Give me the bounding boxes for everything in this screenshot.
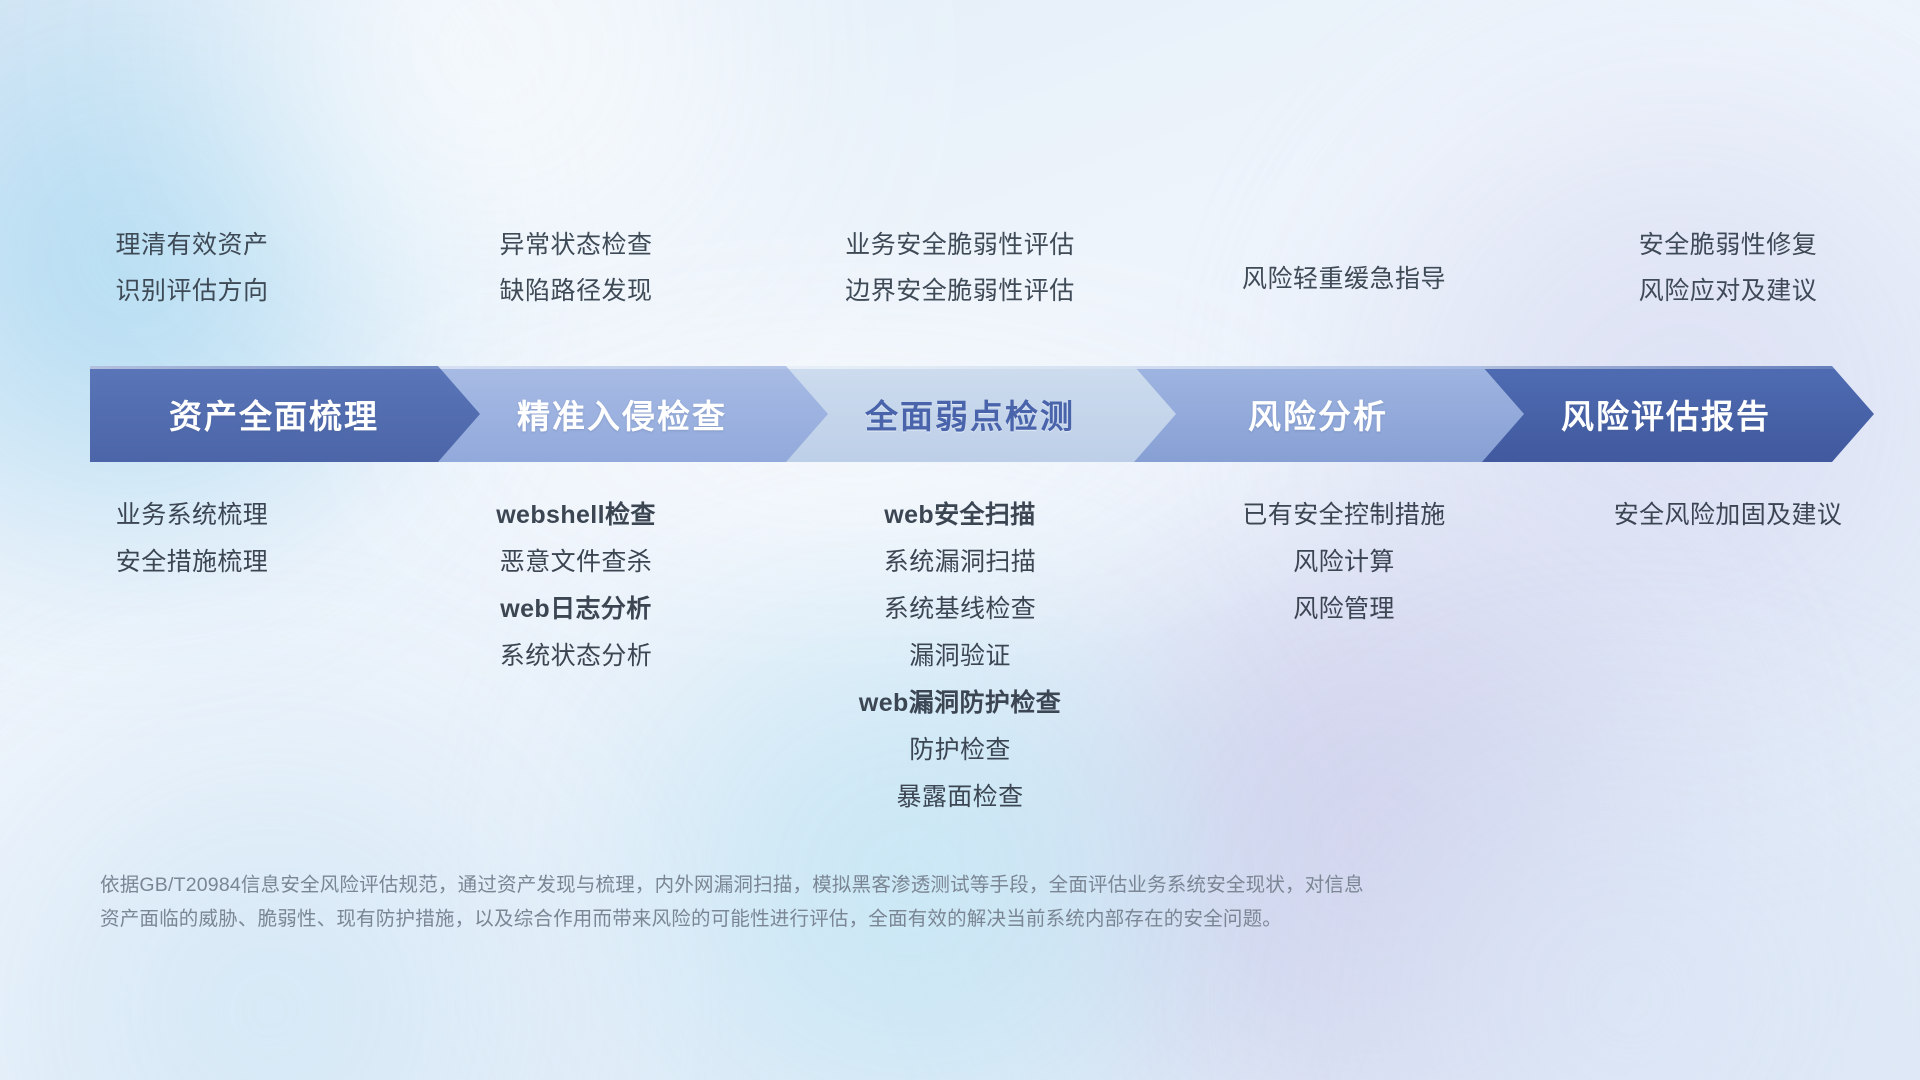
chevron-stage-assessment-report[interactable]: 风险评估报告	[1482, 366, 1874, 462]
top-labels-weakness-detection: 业务安全脆弱性评估 边界安全脆弱性评估	[768, 222, 1152, 314]
bottom-label: 业务系统梳理	[0, 492, 384, 539]
chevron-stage-intrusion-check[interactable]: 精准入侵检查	[438, 366, 830, 462]
bottom-label: 安全风险加固及建议	[1536, 492, 1920, 539]
footer-line: 资产面临的威胁、脆弱性、现有防护措施，以及综合作用而带来风险的可能性进行评估，全…	[100, 902, 1620, 936]
top-labels-row: 理清有效资产 识别评估方向 异常状态检查 缺陷路径发现 业务安全脆弱性评估 边界…	[0, 222, 1920, 314]
bottom-label: 系统基线检查	[768, 586, 1152, 633]
bottom-label: 暴露面检查	[768, 774, 1152, 821]
bottom-label: 防护检查	[768, 727, 1152, 774]
footer-description: 依据GB/T20984信息安全风险评估规范，通过资产发现与梳理，内外网漏洞扫描，…	[100, 868, 1620, 936]
bottom-labels-risk-analysis: 已有安全控制措施 风险计算 风险管理	[1152, 492, 1536, 821]
diagram-content: 理清有效资产 识别评估方向 异常状态检查 缺陷路径发现 业务安全脆弱性评估 边界…	[0, 0, 1920, 1080]
bottom-labels-assessment-report: 安全风险加固及建议	[1536, 492, 1920, 821]
chevron-stage-risk-analysis[interactable]: 风险分析	[1134, 366, 1526, 462]
bottom-labels-weakness-detection: web安全扫描 系统漏洞扫描 系统基线检查 漏洞验证 web漏洞防护检查 防护检…	[768, 492, 1152, 821]
top-label: 边界安全脆弱性评估	[768, 268, 1152, 314]
bottom-labels-asset-inventory: 业务系统梳理 安全措施梳理	[0, 492, 384, 821]
bottom-label: 风险计算	[1152, 539, 1536, 586]
chevron-label: 全面弱点检测	[865, 390, 1099, 438]
bottom-label: webshell检查	[384, 492, 768, 539]
bottom-label: web安全扫描	[768, 492, 1152, 539]
chevron-label: 风险评估报告	[1561, 390, 1795, 438]
bottom-label: 漏洞验证	[768, 633, 1152, 680]
chevron-label: 精准入侵检查	[517, 390, 751, 438]
top-labels-risk-analysis: 风险轻重缓急指导	[1152, 222, 1536, 314]
bottom-label: web漏洞防护检查	[768, 680, 1152, 727]
process-chevron-banner: 资产全面梳理 精准入侵检查 全面弱点检测 风险分析 风险评估报告	[90, 366, 1840, 462]
chevron-label: 风险分析	[1248, 390, 1412, 438]
top-label: 风险轻重缓急指导	[1152, 256, 1536, 302]
top-label: 安全脆弱性修复	[1536, 222, 1920, 268]
chevron-stage-asset-inventory[interactable]: 资产全面梳理	[90, 366, 482, 462]
top-label: 理清有效资产	[0, 222, 384, 268]
bottom-label: web日志分析	[384, 586, 768, 633]
top-labels-intrusion-check: 异常状态检查 缺陷路径发现	[384, 222, 768, 314]
chevron-label: 资产全面梳理	[169, 390, 403, 438]
top-labels-asset-inventory: 理清有效资产 识别评估方向	[0, 222, 384, 314]
bottom-label: 安全措施梳理	[0, 539, 384, 586]
top-label: 业务安全脆弱性评估	[768, 222, 1152, 268]
bottom-label: 恶意文件查杀	[384, 539, 768, 586]
top-labels-assessment-report: 安全脆弱性修复 风险应对及建议	[1536, 222, 1920, 314]
chevron-stage-weakness-detection[interactable]: 全面弱点检测	[786, 366, 1178, 462]
bottom-labels-intrusion-check: webshell检查 恶意文件查杀 web日志分析 系统状态分析	[384, 492, 768, 821]
top-label: 风险应对及建议	[1536, 268, 1920, 314]
footer-line: 依据GB/T20984信息安全风险评估规范，通过资产发现与梳理，内外网漏洞扫描，…	[100, 868, 1620, 902]
top-label: 缺陷路径发现	[384, 268, 768, 314]
top-label: 异常状态检查	[384, 222, 768, 268]
bottom-label: 系统状态分析	[384, 633, 768, 680]
diagram-canvas: 理清有效资产 识别评估方向 异常状态检查 缺陷路径发现 业务安全脆弱性评估 边界…	[0, 0, 1920, 1080]
bottom-label: 系统漏洞扫描	[768, 539, 1152, 586]
top-label: 识别评估方向	[0, 268, 384, 314]
bottom-label: 已有安全控制措施	[1152, 492, 1536, 539]
bottom-labels-row: 业务系统梳理 安全措施梳理 webshell检查 恶意文件查杀 web日志分析 …	[0, 492, 1920, 821]
bottom-label: 风险管理	[1152, 586, 1536, 633]
